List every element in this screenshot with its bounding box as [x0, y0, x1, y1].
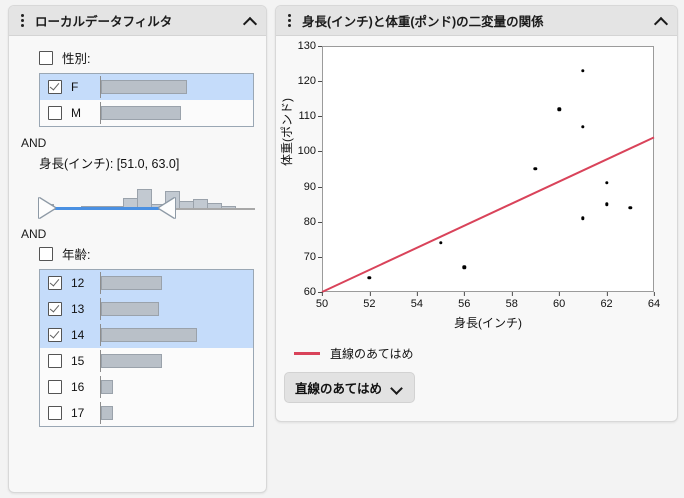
age-bar-14 [100, 327, 253, 343]
age-bar-12 [100, 275, 253, 291]
age-bar-15 [100, 353, 253, 369]
x-axis-tick: 54 [411, 292, 423, 310]
gender-list: F M [39, 73, 254, 127]
list-item[interactable]: F [40, 74, 253, 100]
linear-fit-line [322, 46, 654, 292]
list-item[interactable]: 17 [40, 400, 253, 426]
age-checkbox-17[interactable] [48, 406, 62, 420]
x-axis-tick: 56 [458, 292, 470, 310]
gender-checkbox-f[interactable] [48, 80, 62, 94]
bivariate-chart-panel: 身長(インチ)と体重(ポンド)の二変量の関係 体重(ポンド) 607080901… [275, 5, 678, 422]
list-item[interactable]: 14 [40, 322, 253, 348]
gender-group-label: 性別: [62, 48, 90, 67]
age-checkbox-14[interactable] [48, 328, 62, 342]
y-axis-tick: 80 [304, 216, 322, 228]
x-axis-tick: 64 [648, 292, 660, 310]
gender-bar-f [100, 79, 253, 95]
height-histogram-bars [39, 177, 255, 209]
linear-fit-dropdown-label: 直線のあてはめ [295, 378, 382, 397]
gender-group-checkbox[interactable] [39, 51, 53, 65]
chart-legend: 直線のあてはめ [294, 345, 677, 362]
height-slider-selected-range [47, 207, 175, 210]
x-axis-tick: 60 [553, 292, 565, 310]
age-bar-16 [100, 379, 253, 395]
list-item[interactable]: 13 [40, 296, 253, 322]
chevron-up-icon[interactable] [653, 13, 669, 29]
filter-panel-body: 性別: F M AND 身長(インチ): [51.0, 63.0] [9, 36, 266, 427]
age-group-header[interactable]: 年齢: [39, 244, 254, 263]
height-slider-handle-left[interactable] [39, 198, 55, 218]
age-group-checkbox[interactable] [39, 247, 53, 261]
gender-value-f: F [71, 80, 91, 94]
list-item[interactable]: M [40, 100, 253, 126]
age-value-12: 12 [71, 276, 91, 290]
kebab-menu-icon[interactable] [284, 14, 294, 27]
x-axis-tick: 50 [316, 292, 328, 310]
chevron-down-icon[interactable] [390, 382, 404, 394]
chevron-up-icon[interactable] [242, 13, 258, 29]
filter-panel-title: ローカルデータフィルタ [35, 11, 242, 30]
age-value-15: 15 [71, 354, 91, 368]
local-data-filter-panel: ローカルデータフィルタ 性別: F M AN [8, 5, 267, 493]
gender-bar-m [100, 105, 253, 121]
chart-body: 体重(ポンド) 60708090100110120130505254565860… [276, 36, 677, 403]
y-axis-tick: 120 [298, 75, 322, 87]
x-axis-tick: 58 [506, 292, 518, 310]
age-value-14: 14 [71, 328, 91, 342]
y-axis-tick: 130 [298, 40, 322, 52]
age-bar-17 [100, 405, 253, 421]
chart-panel-header: 身長(インチ)と体重(ポンド)の二変量の関係 [276, 6, 677, 36]
age-checkbox-16[interactable] [48, 380, 62, 394]
y-axis-tick: 110 [298, 110, 322, 122]
height-histogram-slider[interactable] [39, 178, 255, 218]
y-axis-label: 体重(ポンド) [278, 98, 295, 166]
list-item[interactable]: 15 [40, 348, 253, 374]
age-group-label: 年齢: [62, 244, 90, 263]
age-bar-13 [100, 301, 253, 317]
age-value-13: 13 [71, 302, 91, 316]
and-label-2: AND [21, 227, 254, 241]
age-list: 12 13 14 15 [39, 269, 254, 427]
y-axis-tick: 70 [304, 251, 322, 263]
y-axis-tick: 100 [298, 145, 322, 157]
y-axis-tick: 90 [304, 181, 322, 193]
kebab-menu-icon[interactable] [17, 14, 27, 27]
x-axis-tick: 62 [600, 292, 612, 310]
linear-fit-dropdown[interactable]: 直線のあてはめ [284, 372, 415, 403]
height-slider-handle-right[interactable] [159, 198, 175, 218]
legend-swatch-linear-fit [294, 352, 320, 355]
x-axis-label: 身長(インチ) [322, 314, 654, 331]
and-label-1: AND [21, 136, 254, 150]
list-item[interactable]: 12 [40, 270, 253, 296]
gender-checkbox-m[interactable] [48, 106, 62, 120]
age-value-17: 17 [71, 406, 91, 420]
list-item[interactable]: 16 [40, 374, 253, 400]
gender-value-m: M [71, 106, 91, 120]
filter-panel-header: ローカルデータフィルタ [9, 6, 266, 36]
scatter-plot-area[interactable]: 607080901001101201305052545658606264 [322, 46, 654, 292]
x-axis-tick: 52 [363, 292, 375, 310]
age-value-16: 16 [71, 380, 91, 394]
chart-panel-title: 身長(インチ)と体重(ポンド)の二変量の関係 [302, 11, 653, 30]
height-filter-label: 身長(インチ): [51.0, 63.0] [39, 153, 254, 172]
age-checkbox-15[interactable] [48, 354, 62, 368]
age-checkbox-12[interactable] [48, 276, 62, 290]
app-root: ローカルデータフィルタ 性別: F M AN [0, 0, 684, 498]
gender-group-header[interactable]: 性別: [39, 48, 254, 67]
legend-label-linear-fit: 直線のあてはめ [330, 345, 414, 362]
age-checkbox-13[interactable] [48, 302, 62, 316]
